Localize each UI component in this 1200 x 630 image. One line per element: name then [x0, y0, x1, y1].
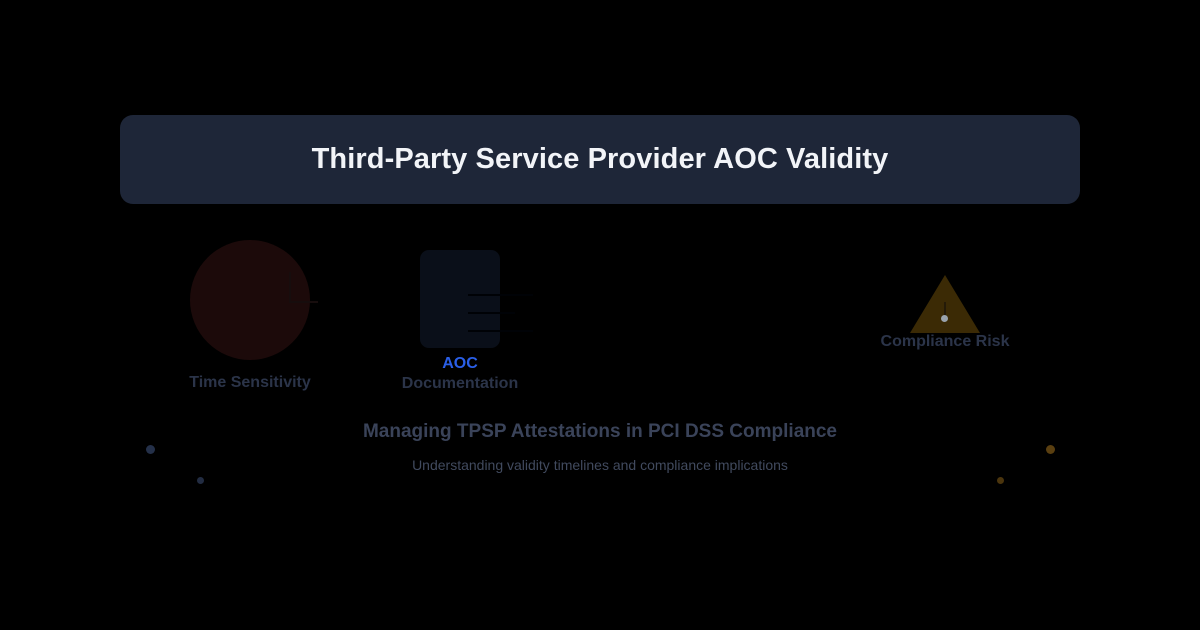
decorative-dot: [197, 477, 204, 484]
exclamation-dot-icon: [941, 315, 948, 322]
decorative-dot: [146, 445, 155, 454]
page-title: Third-Party Service Provider AOC Validit…: [312, 145, 889, 174]
decorative-dot: [997, 477, 1004, 484]
decorative-dot: [1046, 445, 1055, 454]
header-banner: Third-Party Service Provider AOC Validit…: [120, 115, 1080, 204]
icon-label-aoc-documentation: AOC Documentation: [380, 354, 540, 394]
icon-group-time-sensitivity: Time Sensitivity: [150, 238, 350, 403]
document-text-line: [468, 330, 533, 332]
icon-group-compliance-risk: Compliance Risk: [845, 270, 1045, 365]
icon-label-time-sensitivity: Time Sensitivity: [150, 374, 350, 392]
icon-label-aoc-line1: AOC: [380, 354, 540, 374]
slide-canvas: Third-Party Service Provider AOC Validit…: [0, 0, 1200, 630]
caption-heading: Managing TPSP Attestations in PCI DSS Co…: [0, 420, 1200, 445]
clock-hour-hand: [289, 272, 291, 303]
document-icon: [420, 250, 500, 348]
document-text-line: [468, 312, 515, 314]
icon-label-compliance-risk: Compliance Risk: [845, 333, 1045, 351]
icon-group-aoc-documentation: AOC Documentation: [380, 238, 540, 403]
document-text-line: [468, 294, 533, 296]
caption-subtitle: Understanding validity timelines and com…: [0, 456, 1200, 474]
clock-icon: [190, 240, 310, 360]
clock-minute-hand: [290, 301, 318, 303]
icon-label-aoc-line2: Documentation: [380, 374, 540, 394]
caption-block: Managing TPSP Attestations in PCI DSS Co…: [0, 420, 1200, 474]
